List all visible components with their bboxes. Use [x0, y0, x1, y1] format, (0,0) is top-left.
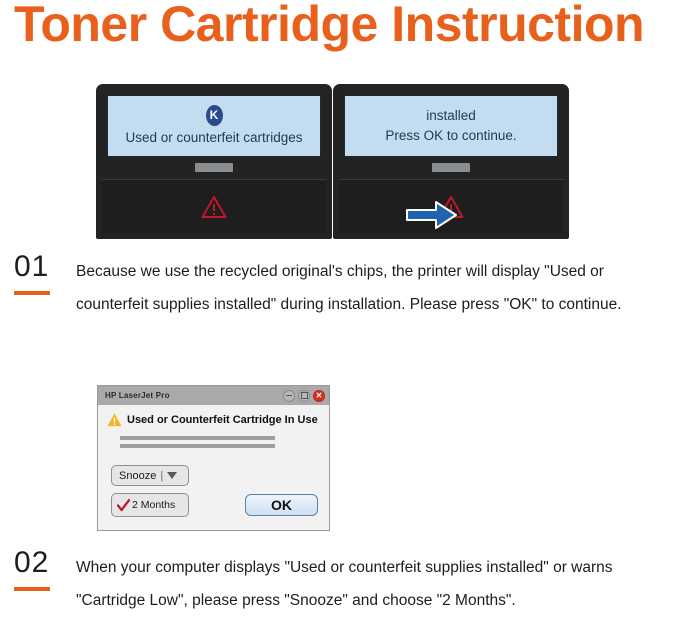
snooze-separator: | — [160, 470, 163, 482]
placeholder-bar — [120, 436, 275, 440]
dialog-placeholder-text — [120, 436, 275, 448]
lcd-line: Press OK to continue. — [385, 126, 516, 146]
printer-panel-left: K Used or counterfeit cartridges — [96, 84, 332, 239]
dialog-titlebar[interactable]: HP LaserJet Pro ✕ — [98, 386, 329, 405]
dialog-heading: Used or Counterfeit Cartridge In Use — [127, 414, 318, 426]
dialog-heading-row: Used or Counterfeit Cartridge In Use — [98, 405, 329, 427]
snooze-dropdown[interactable]: Snooze | — [111, 465, 189, 486]
k-cartridge-icon: K — [206, 105, 223, 126]
minimize-icon[interactable] — [283, 390, 295, 402]
red-check-icon — [117, 499, 130, 512]
printer-lcd-left: K Used or counterfeit cartridges — [107, 95, 321, 157]
red-warning-triangle-icon — [201, 195, 227, 219]
step-number-block: 02 — [14, 548, 66, 591]
printer-lcd-right: installed Press OK to continue. — [344, 95, 558, 157]
lcd-line: Used or counterfeit cartridges — [125, 128, 302, 148]
printer-lower-body — [102, 180, 326, 233]
printer-physical-button[interactable] — [432, 163, 470, 172]
window-controls: ✕ — [283, 390, 325, 402]
step-text: When your computer displays "Used or cou… — [76, 551, 674, 617]
snooze-label: Snooze — [119, 470, 156, 482]
step-number: 01 — [14, 252, 66, 282]
lcd-line: installed — [426, 106, 476, 126]
page-title: Toner Cartridge Instruction — [14, 0, 644, 54]
hp-laserjet-dialog: HP LaserJet Pro ✕ Used or Counterfeit Ca… — [97, 385, 330, 531]
dialog-body: Used or Counterfeit Cartridge In Use Sno… — [98, 405, 329, 530]
step-number: 02 — [14, 548, 66, 578]
arrow-right-icon — [406, 200, 458, 230]
maximize-icon[interactable] — [298, 390, 310, 402]
step-accent-rule — [14, 291, 50, 295]
step-text: Because we use the recycled original's c… — [76, 255, 674, 321]
chevron-down-icon[interactable] — [167, 472, 177, 479]
placeholder-bar — [120, 444, 275, 448]
amber-warning-triangle-icon — [107, 413, 122, 427]
printer-physical-button[interactable] — [195, 163, 233, 172]
months-label: 2 Months — [132, 499, 175, 511]
step-accent-rule — [14, 587, 50, 591]
close-icon[interactable]: ✕ — [313, 390, 325, 402]
dialog-window-title: HP LaserJet Pro — [105, 391, 170, 400]
months-option-button[interactable]: 2 Months — [111, 493, 189, 517]
step-number-block: 01 — [14, 252, 66, 295]
printer-illustration: K Used or counterfeit cartridges install… — [96, 84, 569, 239]
ok-button[interactable]: OK — [245, 494, 318, 516]
